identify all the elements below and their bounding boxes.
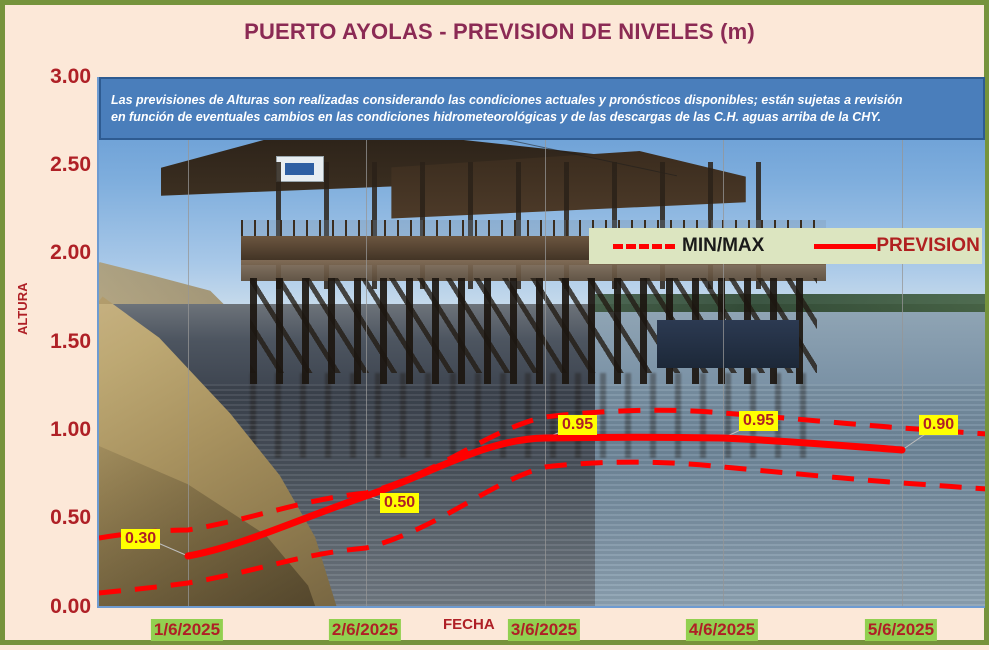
legend-item-prevision[interactable]: PREVISION (764, 235, 979, 257)
x-axis-title: FECHA (443, 616, 495, 633)
data-label-3: 0.95 (558, 415, 597, 435)
y-axis-title: ALTURA (15, 283, 30, 335)
series-prevision-line (188, 437, 902, 556)
data-label-4: 0.95 (739, 411, 778, 431)
y-tick-0: 0.00 (13, 595, 91, 619)
y-tick-1: 1.00 (13, 418, 91, 442)
series-layer (99, 77, 985, 608)
y-tick-2: 2.00 (13, 241, 91, 265)
x-tick-4: 4/6/2025 (686, 619, 758, 641)
note-line-1: Las previsiones de Alturas son realizada… (111, 92, 973, 109)
series-min-line (99, 462, 985, 593)
plot-area: Las previsiones de Alturas son realizada… (97, 77, 985, 608)
chart-frame: PUERTO AYOLAS - PREVISION DE NIVELES (m)… (0, 0, 989, 645)
legend-label-minmax: MIN/MAX (682, 235, 764, 257)
legend-item-minmax[interactable]: MIN/MAX (589, 235, 764, 257)
page-title: PUERTO AYOLAS - PREVISION DE NIVELES (m) (5, 19, 989, 45)
legend-label-prevision: PREVISION (876, 235, 979, 257)
disclaimer-note: Las previsiones de Alturas son realizada… (99, 77, 985, 140)
y-tick-0p5: 0.50 (13, 506, 91, 530)
data-label-5: 0.90 (919, 415, 958, 435)
data-label-1: 0.30 (121, 529, 160, 549)
y-tick-2p5: 2.50 (13, 153, 91, 177)
x-tick-3: 3/6/2025 (508, 619, 580, 641)
y-tick-3: 3.00 (13, 65, 91, 89)
note-line-2: en función de eventuales cambios en las … (111, 109, 973, 126)
x-tick-5: 5/6/2025 (865, 619, 937, 641)
dashed-line-icon (613, 244, 675, 249)
y-axis: ALTURA 3.00 2.50 2.00 1.50 1.00 0.50 0.0… (5, 5, 91, 650)
data-label-2: 0.50 (380, 493, 419, 513)
y-tick-1p5: 1.50 (13, 330, 91, 354)
legend[interactable]: MIN/MAX PREVISION (589, 228, 982, 264)
series-max-line (99, 410, 985, 538)
solid-line-icon (814, 244, 876, 249)
x-tick-2: 2/6/2025 (329, 619, 401, 641)
x-tick-1: 1/6/2025 (151, 619, 223, 641)
